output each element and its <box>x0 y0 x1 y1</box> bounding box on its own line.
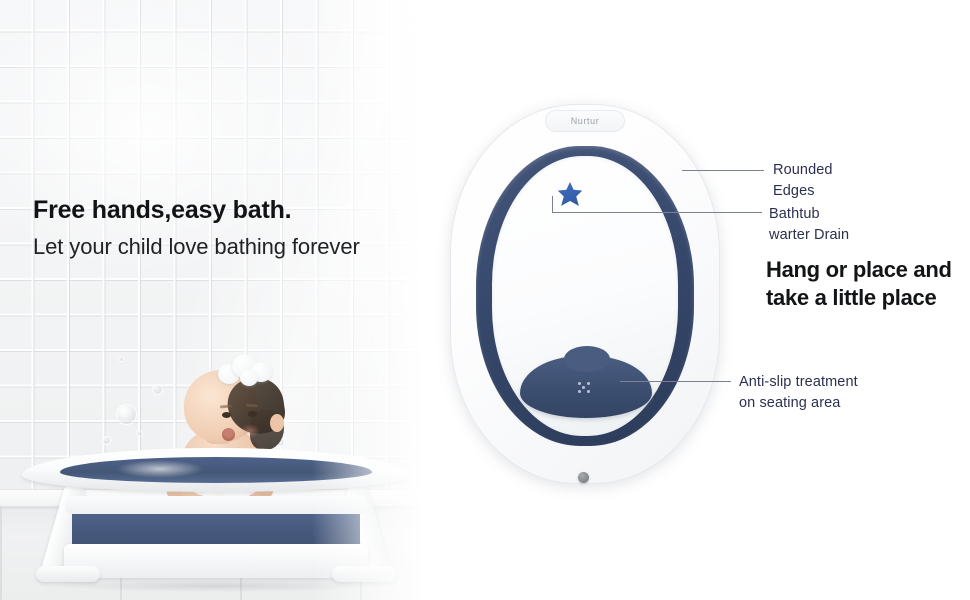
headline-block: Free hands,easy bath. Let your child lov… <box>33 196 360 260</box>
bottom-drain-plug <box>578 472 589 483</box>
bathtub-foot-left <box>36 566 100 582</box>
leader-line-drain-horizontal <box>552 212 762 213</box>
callout-bathtub-drain-line2: warter Drain <box>769 225 849 246</box>
anti-slip-seat-pad <box>520 356 652 418</box>
foam-on-hair <box>216 352 274 392</box>
callout-bathtub-drain-line1: Bathtub <box>769 204 849 225</box>
seat-texture-dots <box>576 380 594 396</box>
toddler-eye-right <box>248 411 257 417</box>
toddler-cheek <box>240 424 260 438</box>
callout-rounded-edges-line2: Edges <box>773 181 833 202</box>
callout-anti-slip-line1: Anti-slip treatment <box>739 372 858 393</box>
headline-primary: Free hands,easy bath. <box>33 196 360 225</box>
soap-bubble <box>102 436 111 445</box>
product-banner: Free hands,easy bath. Let your child lov… <box>0 0 970 600</box>
soap-bubble <box>118 356 124 362</box>
brand-name: Nurtur <box>571 116 600 126</box>
leader-line-drain-vertical <box>552 196 553 213</box>
toddler-ear <box>270 414 284 432</box>
toddler-mouth <box>222 428 235 441</box>
brand-badge: Nurtur <box>545 110 625 132</box>
callout-bathtub-drain: Bathtub warter Drain <box>769 204 849 245</box>
leader-line-anti-slip <box>620 381 731 382</box>
callout-rounded-edges: Rounded Edges <box>773 160 833 201</box>
leader-line-rounded-edges <box>682 170 764 171</box>
product-claim-headline: Hang or place and take a little place <box>766 256 966 311</box>
headline-secondary: Let your child love bathing forever <box>33 234 360 260</box>
callout-anti-slip-line2: on seating area <box>739 393 858 414</box>
callout-rounded-edges-line1: Rounded <box>773 160 833 181</box>
toddler-eye-left <box>222 412 231 418</box>
soap-bubble <box>136 430 143 437</box>
lifestyle-photo-panel: Free hands,easy bath. Let your child lov… <box>0 0 432 600</box>
bathtub-top-view: Nurtur <box>450 104 720 492</box>
soap-bubble <box>116 404 137 425</box>
callout-anti-slip: Anti-slip treatment on seating area <box>739 372 858 413</box>
photo-edge-fade <box>312 0 432 600</box>
product-diagram-panel: Nurtur Rounded Edges Bathtub warter Drai… <box>432 0 970 600</box>
